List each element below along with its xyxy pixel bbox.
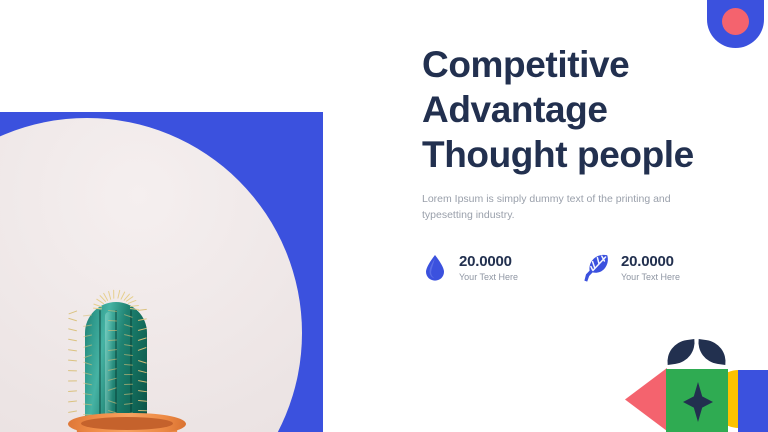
- cactus-spine: [68, 380, 77, 382]
- cactus-spine: [138, 410, 147, 412]
- headline-line-2: Advantage: [422, 87, 722, 132]
- cactus-spine: [124, 384, 133, 386]
- cactus-spine: [83, 393, 92, 396]
- stat-item: 20.0000 Your Text Here: [584, 251, 706, 285]
- cactus-spine: [124, 354, 133, 356]
- cactus-spine: [83, 361, 92, 365]
- leaf-right: [696, 339, 729, 365]
- cactus-spine: [108, 310, 117, 312]
- leaf-left: [665, 339, 698, 365]
- feather-icon: [584, 251, 610, 285]
- cactus-spine: [138, 360, 147, 364]
- cactus-spine: [124, 314, 133, 318]
- cactus-spine: [124, 364, 133, 366]
- cactus-illustration: [85, 302, 147, 428]
- cactus-spine: [124, 403, 133, 406]
- cactus-spine: [108, 340, 117, 342]
- sprout-leaves-icon: [666, 336, 728, 376]
- cactus-spine: [138, 337, 147, 341]
- coral-triangle-icon: [625, 368, 667, 431]
- cactus-spine: [83, 403, 92, 405]
- pot-rim: [68, 413, 186, 432]
- cactus-spine: [108, 378, 117, 382]
- cactus-spine: [108, 387, 117, 391]
- cactus-spine: [138, 347, 147, 351]
- cactus-spine: [124, 324, 133, 328]
- terracotta-pot-illustration: [68, 413, 186, 432]
- slide-canvas: Competitive Advantage Thought people Lor…: [0, 0, 768, 432]
- cactus-spine: [108, 400, 117, 404]
- stat-item: 20.0000 Your Text Here: [422, 251, 544, 285]
- cactus-spine: [108, 359, 117, 362]
- bottom-right-decoration: [600, 336, 768, 432]
- blue-rectangle-icon: [738, 370, 768, 432]
- cactus-spine: [83, 324, 92, 327]
- water-drop-icon: [422, 251, 448, 285]
- cactus-spine: [83, 334, 92, 337]
- cactus-spine: [68, 370, 77, 372]
- cactus-spine: [108, 349, 117, 351]
- headline-line-3: Thought people: [422, 132, 722, 177]
- cactus-spine: [108, 320, 117, 322]
- cactus-spine: [124, 334, 133, 337]
- subtitle-text: Lorem Ipsum is simply dummy text of the …: [422, 191, 680, 223]
- cactus-spine: [108, 290, 112, 299]
- cactus-spine: [138, 380, 147, 383]
- stat-text: 20.0000 Your Text Here: [621, 254, 680, 282]
- cactus-spine: [138, 390, 147, 393]
- cactus-crown-spines: [101, 292, 133, 310]
- cactus-spine: [138, 318, 147, 321]
- cactus-spine: [113, 290, 115, 299]
- cactus-spine: [124, 374, 133, 376]
- top-right-blue-shape: [707, 0, 764, 48]
- pot-rim-inner: [81, 417, 173, 430]
- headline-line-1: Competitive: [422, 42, 722, 87]
- cactus-spine: [83, 372, 92, 376]
- cactus-spine: [83, 344, 92, 348]
- cactus-spines: [75, 294, 157, 432]
- cactus-spine: [83, 354, 92, 358]
- stat-label: Your Text Here: [621, 273, 680, 282]
- cactus-spine: [138, 370, 147, 374]
- cactus-spine: [83, 314, 92, 316]
- cactus-photo-panel: [0, 112, 323, 432]
- stat-text: 20.0000 Your Text Here: [459, 254, 518, 282]
- stat-label: Your Text Here: [459, 273, 518, 282]
- cactus-spine: [138, 400, 147, 402]
- cactus-spine: [108, 330, 117, 331]
- coral-circle-icon: [722, 8, 749, 35]
- cactus-spine: [83, 382, 92, 385]
- text-content-block: Competitive Advantage Thought people Lor…: [422, 42, 722, 223]
- cactus-spine: [108, 368, 117, 371]
- stat-value: 20.0000: [621, 253, 674, 270]
- cactus-spine: [68, 390, 77, 392]
- cactus-spine: [124, 393, 133, 395]
- cactus-spine: [124, 344, 133, 347]
- cactus-spine: [138, 309, 147, 312]
- cactus-spine: [138, 328, 147, 332]
- page-title: Competitive Advantage Thought people: [422, 42, 722, 177]
- stats-row: 20.0000 Your Text Here 20.0000 Your Text…: [422, 251, 722, 285]
- stat-value: 20.0000: [459, 253, 512, 270]
